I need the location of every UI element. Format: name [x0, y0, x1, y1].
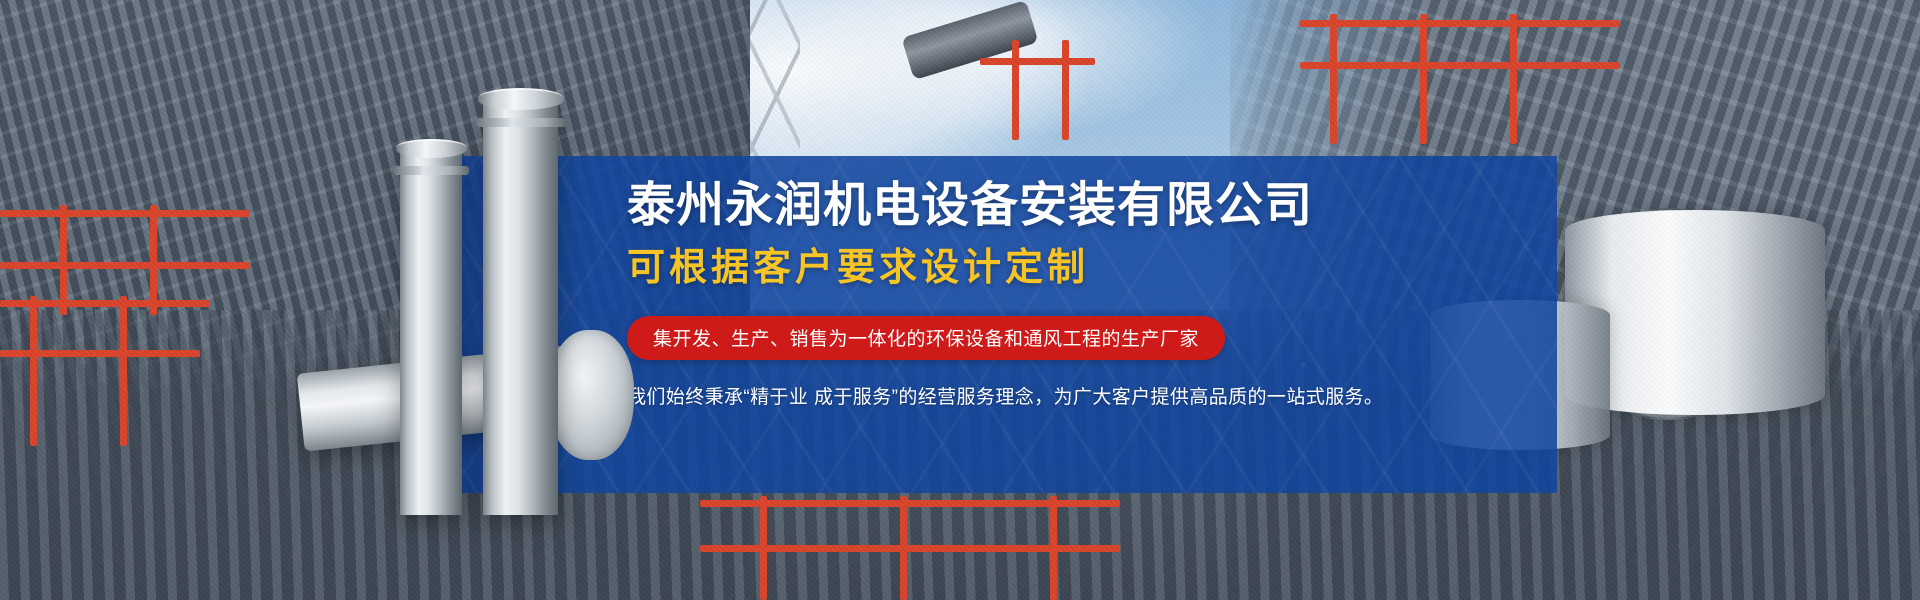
- railing-icon: [1012, 40, 1019, 140]
- railing-icon: [0, 262, 250, 269]
- railing-icon: [1050, 496, 1057, 600]
- railing-icon: [30, 296, 37, 446]
- railing-icon: [60, 205, 67, 315]
- railing-icon: [1300, 62, 1620, 69]
- railing-icon: [760, 496, 767, 600]
- tagline-text: 我们始终秉承“精于业 成于服务”的经营服务理念，为广大客户提供高品质的一站式服务…: [627, 382, 1557, 409]
- railing-icon: [980, 58, 1095, 65]
- headline-subtitle: 可根据客户要求设计定制: [627, 245, 1557, 293]
- railing-icon: [1510, 14, 1517, 144]
- headline-content: 泰州永润机电设备安装有限公司 可根据客户要求设计定制 集开发、生产、销售为一体化…: [405, 156, 1557, 493]
- page-title: 泰州永润机电设备安装有限公司: [627, 177, 1557, 236]
- railing-icon: [0, 210, 250, 217]
- railing-icon: [1420, 14, 1427, 144]
- hero-banner: 泰州永润机电设备安装有限公司 可根据客户要求设计定制 集开发、生产、销售为一体化…: [0, 0, 1920, 600]
- railing-icon: [1062, 40, 1069, 140]
- headline-panel: 泰州永润机电设备安装有限公司 可根据客户要求设计定制 集开发、生产、销售为一体化…: [405, 156, 1557, 493]
- railing-icon: [150, 205, 157, 315]
- railing-icon: [120, 296, 127, 446]
- railing-icon: [900, 496, 907, 600]
- railing-icon: [1300, 20, 1620, 27]
- status-badge: 集开发、生产、销售为一体化的环保设备和通风工程的生产厂家: [627, 316, 1225, 360]
- railing-icon: [1330, 14, 1337, 144]
